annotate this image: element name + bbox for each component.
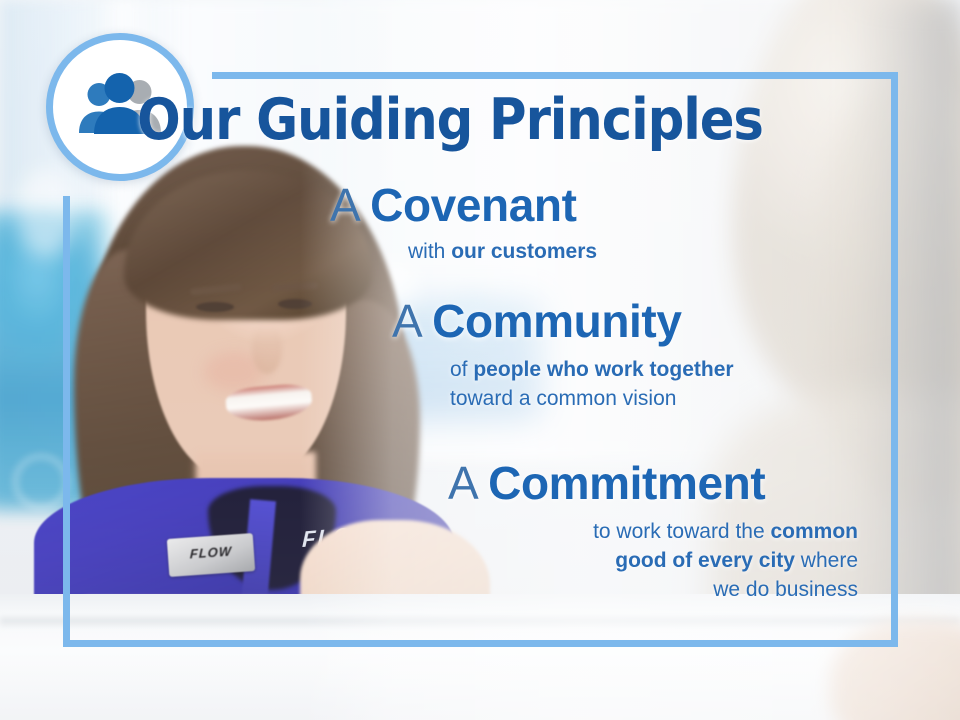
principle-commitment-subtitle: to work toward the common good of every … [330, 518, 870, 605]
principle-community-sub-regular-1: of [450, 358, 473, 381]
principle-commitment-title: A Commitment [330, 460, 890, 508]
page-title: Our Guiding Principles [45, 92, 855, 149]
principle-covenant-sub-regular: with [408, 240, 451, 263]
principle-community-title: A Community [330, 298, 890, 346]
principle-community-keyword: Community [432, 295, 681, 347]
principle-commitment-sub-regular-1: to work toward the [593, 520, 770, 543]
principle-covenant-keyword: Covenant [370, 179, 576, 231]
principle-commitment-sub-bold-2: good of every city [615, 549, 795, 572]
principle-covenant-sub-bold: our customers [451, 240, 597, 263]
principles-content: Our Guiding Principles A Covenant with o… [0, 0, 960, 720]
principle-community-sub-regular-2: toward a common vision [450, 387, 676, 410]
principle-covenant: A Covenant with our customers [330, 182, 890, 267]
principle-community-article: A [392, 295, 432, 347]
principle-commitment-keyword: Commitment [488, 457, 765, 509]
principle-commitment-sub-bold-1: common [770, 520, 858, 543]
principle-community-subtitle: of people who work together toward a com… [330, 356, 890, 414]
principle-commitment-article: A [448, 457, 488, 509]
principle-community: A Community of people who work together … [330, 298, 890, 414]
guiding-principles-banner: FLOW FLOW [0, 0, 960, 720]
principle-commitment-sub-regular-3: we do business [713, 578, 858, 601]
principle-covenant-article: A [330, 179, 370, 231]
principle-community-sub-bold: people who work together [473, 358, 733, 381]
principle-covenant-subtitle: with our customers [330, 238, 890, 267]
principle-commitment-sub-regular-2: where [795, 549, 858, 572]
principle-covenant-title: A Covenant [330, 182, 890, 230]
principle-commitment: A Commitment to work toward the common g… [330, 460, 890, 605]
